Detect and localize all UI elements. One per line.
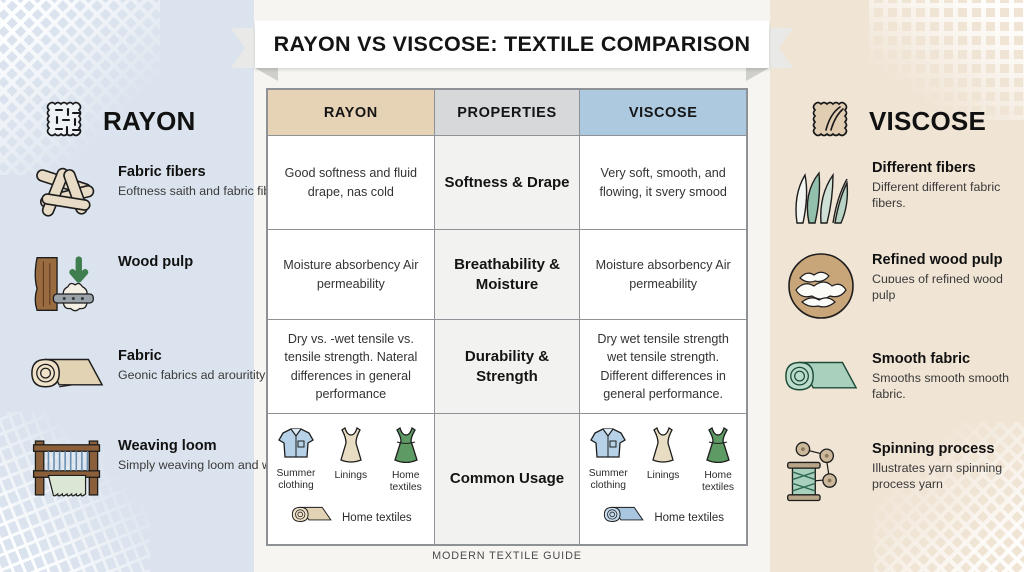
spinning-spool-icon bbox=[782, 435, 860, 507]
leaf-fibers-icon bbox=[782, 158, 860, 230]
column-header-viscose: VISCOSE bbox=[580, 90, 747, 136]
usage-caption: Linings bbox=[647, 470, 680, 482]
feature-spinning-process: Spinning process Illustrates yarn spinni… bbox=[782, 435, 1024, 507]
usage-caption: Summer clothing bbox=[586, 468, 630, 492]
brand-viscose: VISCOSE bbox=[810, 96, 986, 147]
feature-different-fibers: Different fibers Different different fab… bbox=[782, 158, 1024, 230]
feature-title: Refined wood pulp bbox=[872, 252, 1024, 269]
feature-title: Smooth fabric bbox=[872, 351, 1024, 368]
feature-desc: Illustrates yarn spinning process yarn bbox=[872, 460, 1024, 492]
fabric-roll-icon bbox=[602, 502, 646, 535]
usage-item: Summer clothing bbox=[274, 425, 318, 494]
brand-rayon: RAYON bbox=[44, 96, 196, 147]
dress-icon bbox=[703, 425, 733, 468]
brand-viscose-label: VISCOSE bbox=[869, 106, 986, 137]
feature-desc: Smooths smooth smooth fabric. bbox=[872, 370, 1024, 402]
column-header-rayon: RAYON bbox=[268, 90, 435, 136]
cell-property: Breathability & Moisture bbox=[434, 230, 580, 320]
cell-rayon: Dry vs. -wet tensile vs. tensile strengt… bbox=[268, 320, 435, 414]
title-ribbon: RAYON VS VISCOSE: TEXTILE COMPARISON bbox=[231, 21, 793, 75]
usage-caption: Linings bbox=[335, 470, 368, 482]
usage-caption: Summer clothing bbox=[274, 468, 318, 492]
page-title: RAYON VS VISCOSE: TEXTILE COMPARISON bbox=[274, 32, 751, 57]
cell-viscose-usage: Summer clothing Linings bbox=[580, 414, 747, 545]
fabric-roll-icon bbox=[28, 342, 106, 414]
infographic-canvas: RAYON VS VISCOSE: TEXTILE COMPARISON RAY… bbox=[0, 0, 1024, 572]
fabric-swatch-icon bbox=[810, 96, 856, 147]
shirt-icon bbox=[589, 425, 627, 466]
feature-title: Different fibers bbox=[872, 160, 1024, 177]
feature-desc: Eoftness saith and fabric fibers. bbox=[118, 183, 291, 199]
brand-rayon-label: RAYON bbox=[103, 106, 196, 137]
table-row: Dry vs. -wet tensile vs. tensile strengt… bbox=[268, 320, 747, 414]
fabric-roll-icon bbox=[782, 345, 860, 417]
cell-property: Durability & Strength bbox=[434, 320, 580, 414]
fabric-roll-icon bbox=[290, 502, 334, 535]
feature-desc: Different different fabric fibers. bbox=[872, 179, 1024, 211]
table-row: Good softness and fluid drape, nas cold … bbox=[268, 136, 747, 230]
usage-item: Summer clothing bbox=[586, 425, 630, 494]
usage-item: Home textiles bbox=[696, 425, 740, 494]
table-row-usage: Summer clothing Linings bbox=[268, 414, 747, 545]
fiber-strands-icon bbox=[28, 158, 106, 230]
cell-rayon: Good softness and fluid drape, nas cold bbox=[268, 136, 435, 230]
column-header-properties: PROPERTIES bbox=[434, 90, 580, 136]
usage-caption: Home textiles bbox=[696, 470, 740, 494]
feature-title: Fabric fibers bbox=[118, 164, 291, 181]
usage-item: Linings bbox=[329, 425, 373, 494]
usage-caption: Home textiles bbox=[654, 512, 724, 526]
usage-item: Home textiles bbox=[384, 425, 428, 494]
cell-property: Common Usage bbox=[434, 414, 580, 545]
dress-icon bbox=[648, 425, 678, 468]
usage-caption: Home textiles bbox=[384, 470, 428, 494]
feature-smooth-fabric: Smooth fabric Smooths smooth smooth fabr… bbox=[782, 345, 1024, 417]
footer-caption: MODERN TEXTILE GUIDE bbox=[266, 550, 748, 562]
cell-viscose: Moisture absorbency Air permeability bbox=[580, 230, 747, 320]
comparison-table: RAYON PROPERTIES VISCOSE Good softness a… bbox=[266, 88, 748, 546]
table-header-row: RAYON PROPERTIES VISCOSE bbox=[268, 90, 747, 136]
cell-property: Softness & Drape bbox=[434, 136, 580, 230]
cell-viscose: Dry wet tensile strength wet tensile str… bbox=[580, 320, 747, 414]
usage-caption: Home textiles bbox=[342, 512, 412, 526]
cell-viscose: Very soft, smooth, and flowing, it svery… bbox=[580, 136, 747, 230]
feature-fabric-fibers: Fabric fibers Eoftness saith and fabric … bbox=[28, 158, 291, 230]
table-row: Moisture absorbency Air permeability Bre… bbox=[268, 230, 747, 320]
cell-rayon: Moisture absorbency Air permeability bbox=[268, 230, 435, 320]
cell-rayon-usage: Summer clothing Linings bbox=[268, 414, 435, 545]
shirt-icon bbox=[277, 425, 315, 466]
feature-title: Spinning process bbox=[872, 441, 1024, 458]
feature-title: Wood pulp bbox=[118, 254, 193, 271]
feature-desc: Cuɒues of refined wood pulp bbox=[872, 271, 1024, 303]
usage-item: Linings bbox=[641, 425, 685, 494]
dress-icon bbox=[391, 425, 421, 468]
wood-log-pulp-icon bbox=[28, 248, 106, 320]
ribbon-body: RAYON VS VISCOSE: TEXTILE COMPARISON bbox=[255, 21, 769, 68]
feature-refined-wood-pulp: Refined wood pulp Cuɒues of refined wood… bbox=[782, 250, 1024, 322]
weaving-loom-icon bbox=[28, 432, 106, 504]
dress-icon bbox=[336, 425, 366, 468]
fabric-swatch-icon bbox=[44, 96, 90, 147]
feature-wood-pulp: Wood pulp bbox=[28, 248, 193, 320]
pulp-bowl-icon bbox=[782, 250, 860, 322]
